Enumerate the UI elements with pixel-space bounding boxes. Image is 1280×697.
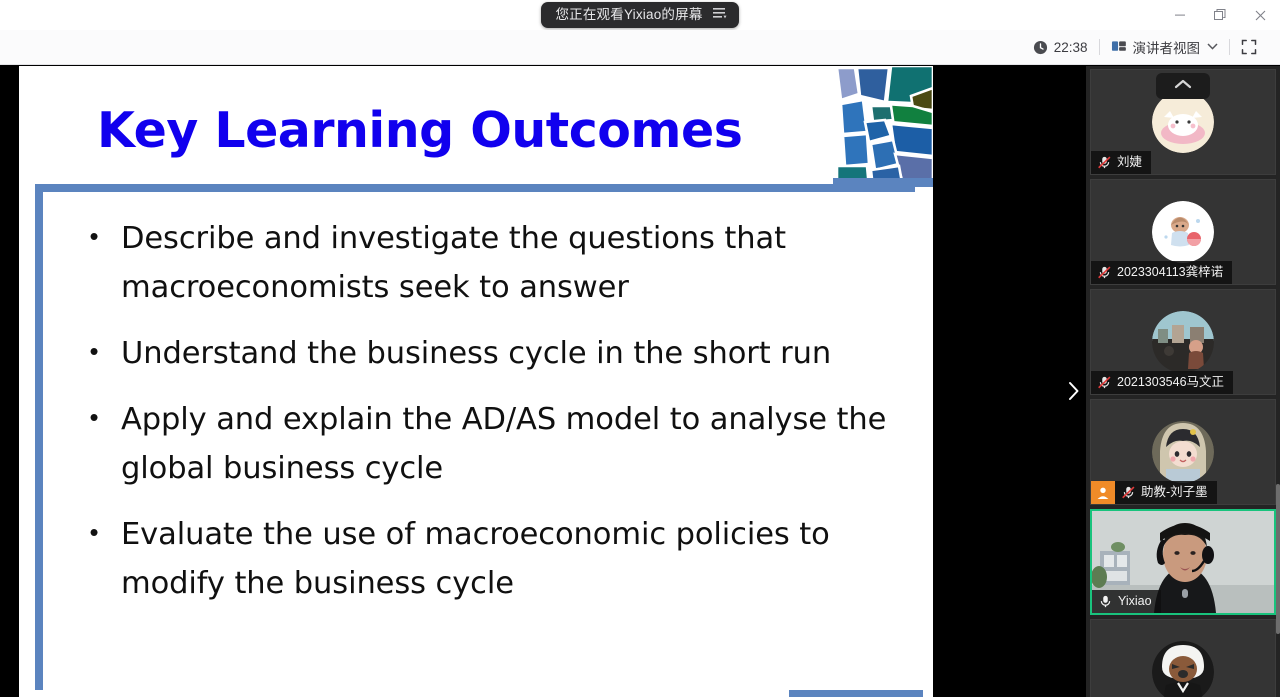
chevron-up-icon [1173, 77, 1193, 95]
meeting-timer: 22:38 [1022, 35, 1099, 59]
participant-namebar: Yixiao [1092, 590, 1161, 613]
window-titlebar: 您正在观看Yixiao的屏幕 [0, 0, 1280, 30]
avatar [1152, 421, 1214, 483]
view-mode-selector[interactable]: 演讲者视图 [1100, 35, 1230, 59]
view-mode-label: 演讲者视图 [1133, 37, 1201, 57]
participant-tile[interactable]: 2021303546马文正 [1090, 289, 1276, 395]
scrollbar-thumb[interactable] [1276, 484, 1280, 634]
chevron-down-icon [1207, 42, 1218, 52]
bullet-glyph: • [87, 395, 101, 439]
avatar [1152, 201, 1214, 263]
window-controls [1160, 0, 1280, 30]
participant-filmstrip[interactable]: 刘婕 [1086, 66, 1280, 697]
slide-body-frame: • Describe and investigate the questions… [35, 184, 915, 690]
minimize-button[interactable] [1160, 0, 1200, 30]
participant-tile[interactable]: 刘婕 [1090, 69, 1276, 175]
filmstrip-scrollbar[interactable] [1276, 66, 1280, 697]
participant-tile-active-speaker[interactable]: Yixiao [1090, 509, 1276, 615]
bullet-text: Understand the business cycle in the sho… [121, 329, 831, 378]
restore-button[interactable] [1200, 0, 1240, 30]
scroll-up-button[interactable] [1156, 73, 1210, 99]
participant-namebar: 2023304113龚梓诺 [1091, 261, 1232, 284]
participant-namebar: 助教-刘子墨 [1115, 481, 1217, 504]
avatar [1152, 311, 1214, 373]
mic-muted-icon [1097, 375, 1112, 390]
mic-on-icon [1098, 594, 1113, 609]
list-item: • Understand the business cycle in the s… [87, 329, 887, 378]
avatar [1152, 641, 1214, 697]
meeting-time-text: 22:38 [1054, 40, 1088, 55]
slide-title: Key Learning Outcomes [97, 102, 742, 159]
bullet-text: Apply and explain the AD/AS model to ana… [121, 395, 887, 493]
decorative-voronoi-graphic [833, 66, 933, 188]
bullet-glyph: • [87, 214, 101, 258]
collapse-filmstrip-button[interactable] [1062, 376, 1084, 410]
participant-name: 2021303546马文正 [1117, 374, 1224, 390]
participant-tile[interactable]: 助教-刘子墨 [1090, 399, 1276, 505]
host-badge [1091, 481, 1115, 504]
list-item: • Evaluate the use of macroeconomic poli… [87, 510, 887, 608]
mic-muted-icon [1097, 155, 1112, 170]
letterbox-left [0, 66, 19, 697]
list-item: • Apply and explain the AD/AS model to a… [87, 395, 887, 493]
presenter-view-icon [1111, 40, 1127, 55]
list-item: • Describe and investigate the questions… [87, 214, 887, 312]
list-menu-icon[interactable] [713, 6, 727, 23]
close-button[interactable] [1240, 0, 1280, 30]
bullet-text: Describe and investigate the questions t… [121, 214, 887, 312]
participant-tile[interactable]: 2023304113龚梓诺 [1090, 179, 1276, 285]
participant-name: 2023304113龚梓诺 [1117, 264, 1223, 280]
mic-muted-icon [1121, 485, 1136, 500]
participant-name: 刘婕 [1117, 154, 1142, 170]
chevron-right-icon [1067, 381, 1080, 406]
meeting-toolbar: 22:38 演讲者视图 [0, 30, 1280, 65]
shared-screen-stage: Key Learning Outcomes • Describe and inv… [0, 66, 1280, 697]
bullet-text: Evaluate the use of macroeconomic polici… [121, 510, 887, 608]
participant-namebar: 刘婕 [1091, 151, 1151, 174]
bullet-glyph: • [87, 510, 101, 554]
avatar [1152, 91, 1214, 153]
share-notice-text: 您正在观看Yixiao的屏幕 [555, 6, 702, 23]
slide-bullet-list: • Describe and investigate the questions… [87, 214, 887, 625]
participant-name: Yixiao [1118, 593, 1152, 609]
participant-tile[interactable] [1090, 619, 1276, 697]
presentation-slide: Key Learning Outcomes • Describe and inv… [19, 66, 933, 697]
screen-share-notice-pill[interactable]: 您正在观看Yixiao的屏幕 [541, 2, 738, 28]
fullscreen-button[interactable] [1230, 35, 1268, 59]
fullscreen-icon [1241, 39, 1257, 55]
mic-muted-icon [1097, 265, 1112, 280]
clock-icon [1033, 40, 1048, 55]
bullet-glyph: • [87, 329, 101, 373]
participant-namebar: 2021303546马文正 [1091, 371, 1233, 394]
participant-name: 助教-刘子墨 [1141, 484, 1208, 500]
